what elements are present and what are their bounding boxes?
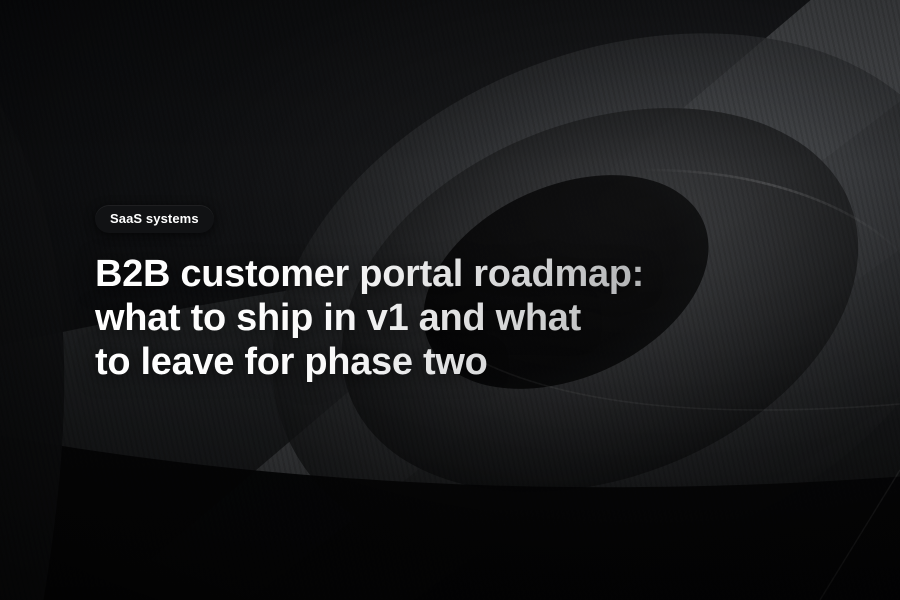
page-title-line-2: what to ship in v1 and what [95, 296, 815, 340]
hero-card: SaaS systems B2B customer portal roadmap… [0, 0, 900, 600]
page-title-line-3: to leave for phase two [95, 340, 815, 384]
category-badge[interactable]: SaaS systems [95, 205, 214, 233]
page-title: B2B customer portal roadmap: what to shi… [95, 252, 815, 384]
hero-content: SaaS systems B2B customer portal roadmap… [95, 205, 815, 384]
page-title-line-1: B2B customer portal roadmap: [95, 252, 815, 296]
